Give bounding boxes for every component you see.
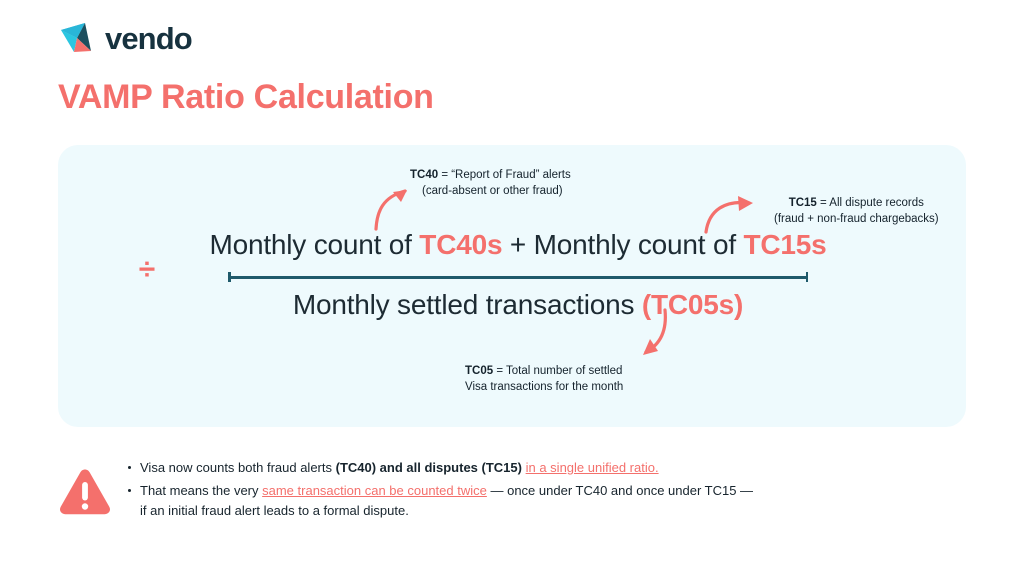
numerator-code-tc15: TC15s	[743, 229, 826, 260]
warning-block: Visa now counts both fraud alerts (TC40)…	[58, 458, 758, 524]
vendo-logo-icon	[60, 21, 96, 55]
callout-tc40-code: TC40	[410, 169, 438, 181]
warning-bullet-list: Visa now counts both fraud alerts (TC40)…	[126, 458, 758, 524]
callout-tc40: TC40 = “Report of Fraud” alerts (card-ab…	[410, 167, 571, 199]
bullet-1-bold: (TC40) and all disputes (TC15)	[336, 460, 522, 475]
callout-tc15-desc: = All dispute records	[817, 197, 924, 209]
warning-bullet-2: That means the very same transaction can…	[126, 481, 758, 521]
callout-tc05-code: TC05	[465, 365, 493, 377]
fraction-bar-line	[228, 276, 808, 279]
fraction-bar	[228, 271, 808, 283]
page-title: VAMP Ratio Calculation	[58, 78, 434, 117]
numerator-operator: +	[502, 229, 533, 260]
curved-arrow-down-icon	[625, 308, 673, 370]
formula-panel: TC40 = “Report of Fraud” alerts (card-ab…	[58, 145, 966, 427]
fraction-bar-cap-right	[806, 272, 809, 282]
formula-denominator: Monthly settled transactions (TC05s)	[158, 285, 878, 325]
callout-tc40-desc: = “Report of Fraud” alerts	[438, 169, 571, 181]
brand-name: vendo	[105, 23, 192, 54]
numerator-code-tc40: TC40s	[419, 229, 502, 260]
callout-tc05-desc: = Total number of settled	[493, 365, 622, 377]
bullet-2-highlight: same transaction can be counted twice	[262, 483, 487, 498]
callout-tc05: TC05 = Total number of settled Visa tran…	[465, 363, 623, 395]
bullet-2-seg1: That means the very	[140, 483, 262, 498]
numerator-text-1: Monthly count of	[209, 229, 419, 260]
brand-logo: vendo	[60, 18, 192, 58]
bullet-1-highlight: in a single unified ratio.	[526, 460, 659, 475]
numerator-text-2: Monthly count of	[534, 229, 744, 260]
formula-numerator: Monthly count of TC40s + Monthly count o…	[158, 225, 878, 265]
callout-tc05-line2: Visa transactions for the month	[465, 379, 623, 395]
bullet-1-seg1: Visa now counts both fraud alerts	[140, 460, 336, 475]
warning-triangle-icon	[58, 466, 112, 518]
vamp-ratio-formula: Monthly count of TC40s + Monthly count o…	[158, 225, 878, 325]
warning-bullet-1: Visa now counts both fraud alerts (TC40)…	[126, 458, 758, 478]
denominator-text: Monthly settled transactions	[293, 289, 642, 320]
callout-tc15-code: TC15	[789, 197, 817, 209]
callout-tc40-line2: (card-absent or other fraud)	[410, 183, 571, 199]
callout-tc15: TC15 = All dispute records (fraud + non-…	[774, 195, 939, 227]
